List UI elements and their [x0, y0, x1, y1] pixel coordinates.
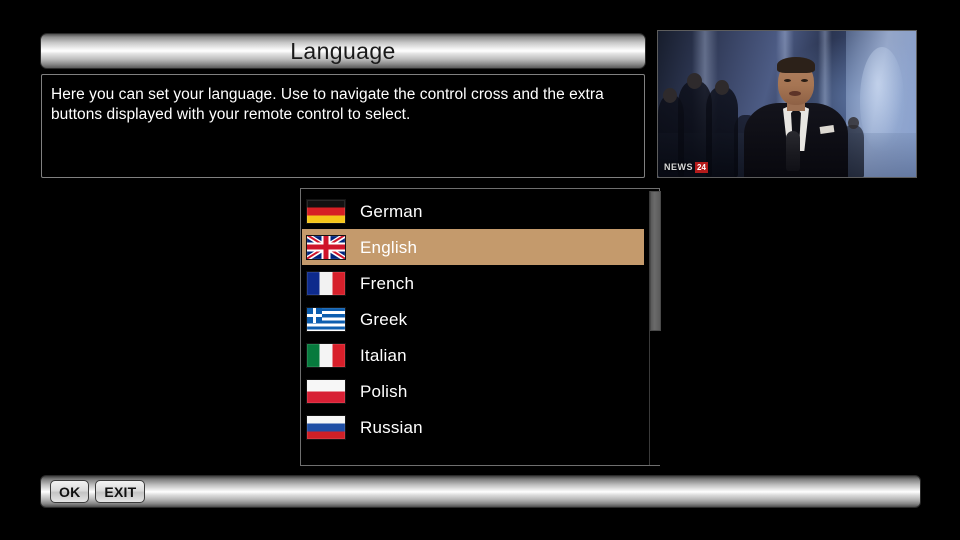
flag-detail	[307, 314, 322, 317]
language-list-item-label: French	[360, 275, 414, 292]
preview-crowd-head	[687, 73, 702, 89]
page-title: Language	[290, 40, 396, 63]
language-list-item-label: Polish	[360, 383, 408, 400]
flag-detail	[324, 236, 329, 259]
language-list[interactable]: GermanEnglishFrenchGreekItalianPolishRus…	[302, 193, 644, 445]
flag-russia-icon	[306, 415, 346, 440]
language-list-scrollbar[interactable]	[649, 191, 660, 465]
preview-crowd-head	[848, 117, 859, 129]
preview-reporter-hair	[777, 57, 815, 73]
flag-germany-icon	[306, 199, 346, 224]
language-list-item-french[interactable]: French	[302, 265, 644, 301]
channel-logo-badge: 24	[695, 162, 708, 173]
flag-poland-icon	[306, 379, 346, 404]
window-title-bar: Language	[40, 33, 646, 69]
live-tv-preview-image: NEWS 24	[658, 31, 916, 177]
language-list-item-german[interactable]: German	[302, 193, 644, 229]
preview-crowd-head	[715, 80, 729, 95]
language-list-item-label: Italian	[360, 347, 407, 364]
help-description-text: Here you can set your language. Use to n…	[51, 85, 635, 125]
preview-reporter-eye	[801, 79, 808, 82]
live-tv-preview[interactable]: NEWS 24	[657, 30, 917, 178]
tv-settings-screen: Language Here you can set your language.…	[0, 0, 960, 540]
language-list-item-label: Russian	[360, 419, 423, 436]
preview-reporter-eye	[784, 79, 791, 82]
language-list-item-label: English	[360, 239, 417, 256]
language-list-item-italian[interactable]: Italian	[302, 337, 644, 373]
language-list-item-polish[interactable]: Polish	[302, 373, 644, 409]
flag-france-icon	[306, 271, 346, 296]
preview-crowd-head	[663, 88, 677, 103]
preview-reporter	[744, 55, 848, 177]
action-bar: OKEXIT	[40, 475, 921, 508]
channel-logo-text: NEWS	[664, 162, 693, 173]
flag-greece-icon	[306, 307, 346, 332]
language-list-panel: GermanEnglishFrenchGreekItalianPolishRus…	[300, 188, 660, 466]
exit-button[interactable]: EXIT	[95, 480, 145, 503]
channel-logo-bug: NEWS 24	[664, 162, 708, 173]
language-list-item-label: Greek	[360, 311, 407, 328]
language-list-item-label: German	[360, 203, 423, 220]
language-list-scrollbar-thumb[interactable]	[650, 191, 661, 331]
preview-reporter-mouth	[789, 91, 801, 96]
ok-button[interactable]: OK	[50, 480, 89, 503]
help-description-panel: Here you can set your language. Use to n…	[41, 74, 645, 178]
language-list-item-english[interactable]: English	[302, 229, 644, 265]
language-list-item-russian[interactable]: Russian	[302, 409, 644, 445]
flag-united-kingdom-icon	[306, 235, 346, 260]
preview-microphone	[786, 131, 800, 171]
language-list-item-greek[interactable]: Greek	[302, 301, 644, 337]
flag-italy-icon	[306, 343, 346, 368]
